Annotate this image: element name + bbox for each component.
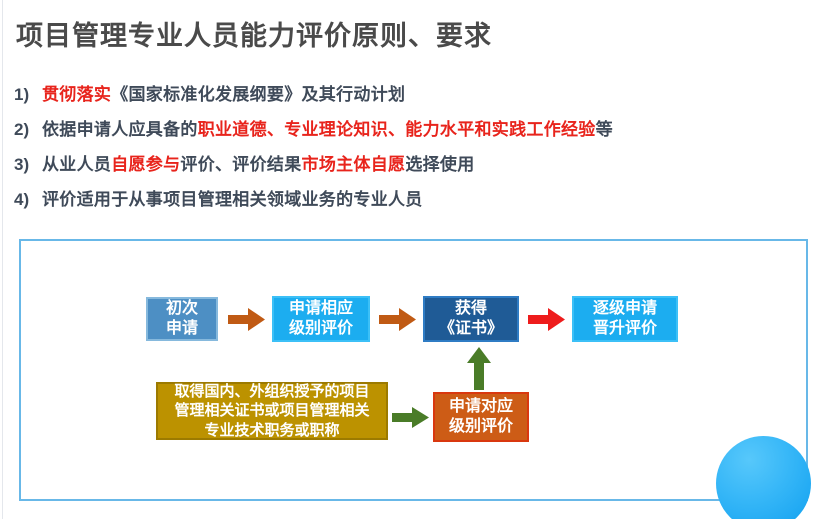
list-item-marker: 4) — [8, 190, 42, 210]
node-line: 《证书》 — [439, 319, 503, 339]
node-line: 申请相应 — [289, 299, 353, 319]
arrow-up-icon — [466, 347, 492, 391]
arrow-right-icon — [528, 307, 566, 332]
list-item-text: 贯彻落实《国家标准化发展纲要》及其行动计划 — [42, 80, 405, 105]
text-segment: 依据申请人应具备的 — [42, 120, 198, 139]
slide-canvas: 项目管理专业人员能力评价原则、要求 1) 贯彻落实《国家标准化发展纲要》及其行动… — [0, 0, 826, 519]
flow-node-initial-application: 初次 申请 — [146, 297, 218, 341]
node-line: 逐级申请 — [593, 299, 657, 319]
arrow-right-icon — [228, 307, 266, 332]
flow-node-stepwise-promotion: 逐级申请 晋升评价 — [572, 296, 678, 342]
text-segment: 选择使用 — [405, 155, 474, 174]
text-segment: 自愿参与 — [111, 155, 180, 174]
principles-list: 1) 贯彻落实《国家标准化发展纲要》及其行动计划 2) 依据申请人应具备的职业道… — [8, 80, 808, 220]
text-segment: 等 — [596, 120, 613, 139]
list-item-marker: 3) — [8, 155, 42, 175]
list-item-marker: 2) — [8, 120, 42, 140]
flow-node-external-certificate: 取得国内、外组织授予的项目 管理相关证书或项目管理相关 专业技术职务或职称 — [156, 382, 388, 440]
list-item: 1) 贯彻落实《国家标准化发展纲要》及其行动计划 — [8, 80, 808, 115]
flow-node-apply-corresponding-level: 申请对应 级别评价 — [433, 392, 529, 442]
flowchart-frame — [19, 239, 808, 501]
text-segment: 市场主体自愿 — [302, 155, 406, 174]
text-segment: 评价、评价结果 — [180, 155, 301, 174]
flow-node-obtain-certificate: 获得 《证书》 — [423, 296, 519, 342]
node-line: 级别评价 — [289, 319, 353, 339]
list-item-marker: 1) — [8, 85, 42, 105]
text-segment: 《国家标准化发展纲要》及其行动计划 — [111, 85, 405, 104]
left-edge-rule — [2, 0, 3, 519]
node-line: 级别评价 — [449, 417, 513, 437]
node-line: 取得国内、外组织授予的项目 — [174, 382, 369, 402]
list-item: 4) 评价适用于从事项目管理相关领域业务的专业人员 — [8, 185, 808, 220]
node-line: 晋升评价 — [593, 319, 657, 339]
text-segment: 从业人员 — [42, 155, 111, 174]
text-segment: 职业道德、专业理论知识、能力水平和实践工作经验 — [198, 120, 596, 139]
text-segment: 评价适用于从事项目管理相关领域业务的专业人员 — [42, 190, 423, 209]
flow-node-apply-level-evaluation: 申请相应 级别评价 — [272, 296, 370, 342]
list-item: 2) 依据申请人应具备的职业道德、专业理论知识、能力水平和实践工作经验等 — [8, 115, 808, 150]
node-line: 获得 — [455, 299, 487, 319]
list-item-text: 从业人员自愿参与评价、评价结果市场主体自愿选择使用 — [42, 150, 475, 175]
text-segment: 贯彻落实 — [42, 85, 111, 104]
node-line: 申请 — [166, 319, 198, 339]
list-item-text: 评价适用于从事项目管理相关领域业务的专业人员 — [42, 185, 423, 210]
node-line: 管理相关证书或项目管理相关 — [174, 401, 369, 421]
page-title: 项目管理专业人员能力评价原则、要求 — [16, 14, 492, 53]
node-line: 初次 — [166, 299, 198, 319]
node-line: 申请对应 — [449, 397, 513, 417]
arrow-right-icon — [379, 307, 417, 332]
list-item-text: 依据申请人应具备的职业道德、专业理论知识、能力水平和实践工作经验等 — [42, 115, 613, 140]
list-item: 3) 从业人员自愿参与评价、评价结果市场主体自愿选择使用 — [8, 150, 808, 185]
arrow-right-icon — [392, 406, 430, 429]
node-line: 专业技术职务或职称 — [204, 421, 339, 441]
